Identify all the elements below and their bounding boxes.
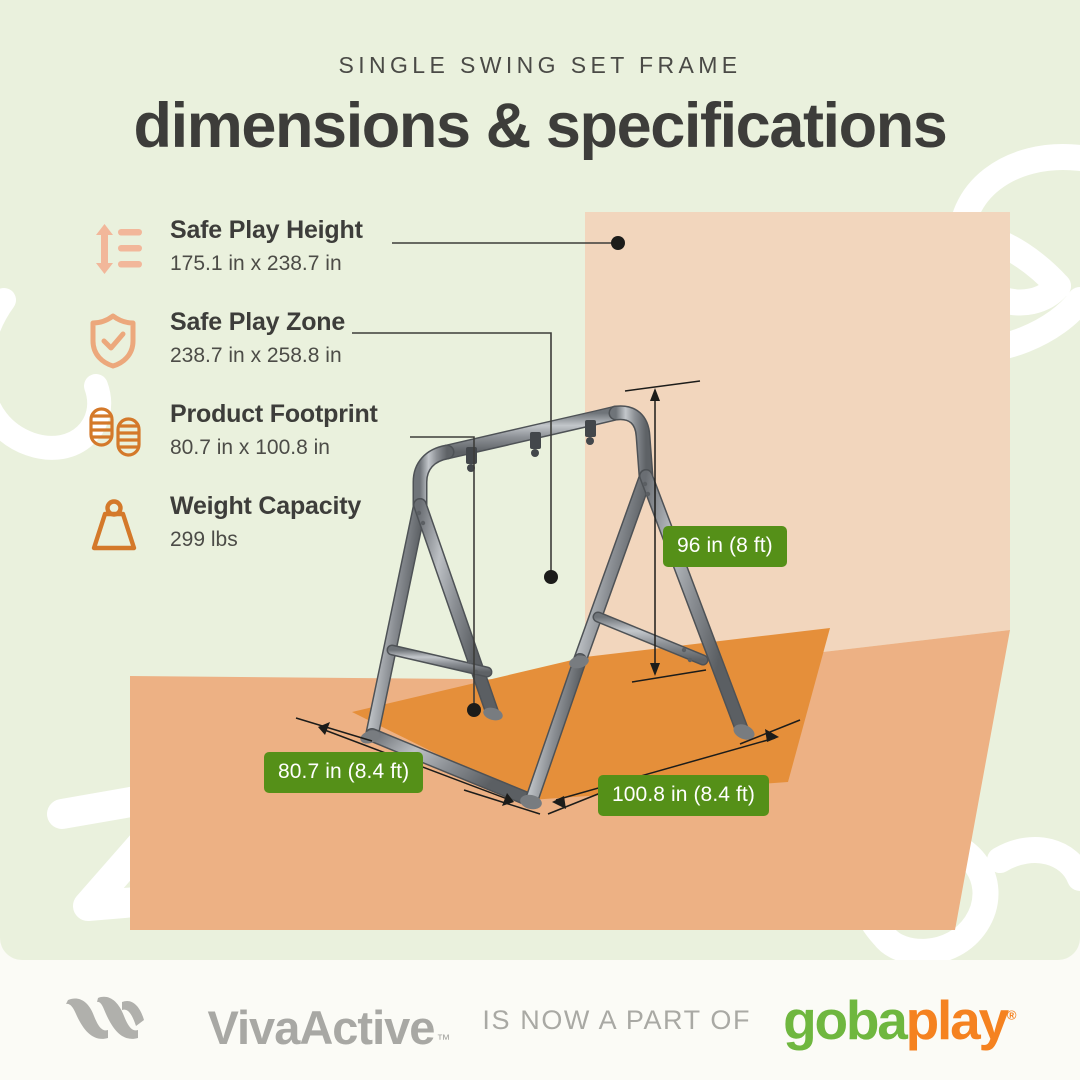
vivaactive-wordmark: VivaActive — [208, 1000, 435, 1055]
spec-label: Safe Play Zone — [170, 308, 345, 337]
trademark-symbol: ™ — [436, 1031, 450, 1047]
spec-row-safe-play-zone: Safe Play Zone 238.7 in x 258.8 in — [88, 306, 508, 398]
leader-dot-safe-play-zone — [544, 570, 558, 584]
weight-icon — [88, 490, 150, 558]
infographic-canvas: SINGLE SWING SET FRAME dimensions & spec… — [0, 0, 1080, 1080]
badge-height: 96 in (8 ft) — [663, 526, 787, 567]
footer-middle-text: IS NOW A PART OF — [482, 1005, 751, 1036]
footer-branding-bar: VivaActive ™ IS NOW A PART OF gobaplay® — [0, 960, 1080, 1080]
spec-label: Weight Capacity — [170, 492, 361, 521]
spec-value: 238.7 in x 258.8 in — [170, 344, 345, 368]
leader-dot-product-footprint — [467, 703, 481, 717]
spec-text-safe-play-height: Safe Play Height 175.1 in x 238.7 in — [150, 214, 363, 276]
footprints-icon — [88, 398, 150, 466]
specifications-list: Safe Play Height 175.1 in x 238.7 in Saf… — [88, 214, 508, 582]
spec-label: Product Footprint — [170, 400, 378, 429]
spec-label: Safe Play Height — [170, 216, 363, 245]
gobaplay-goba: goba — [783, 989, 906, 1051]
shield-check-icon — [88, 306, 150, 374]
spec-value: 175.1 in x 238.7 in — [170, 252, 363, 276]
badge-depth: 100.8 in (8.4 ft) — [598, 775, 769, 816]
height-arrows-icon — [88, 214, 150, 282]
gobaplay-play: play — [906, 989, 1007, 1051]
spec-text-weight-capacity: Weight Capacity 299 lbs — [150, 490, 361, 552]
hanger-bracket-middle — [530, 432, 541, 457]
spec-row-weight-capacity: Weight Capacity 299 lbs — [88, 490, 508, 582]
spec-text-safe-play-zone: Safe Play Zone 238.7 in x 258.8 in — [150, 306, 345, 368]
vivaactive-logo: VivaActive ™ — [64, 986, 451, 1055]
spec-value: 299 lbs — [170, 528, 361, 552]
vivaactive-mark-icon — [64, 986, 214, 1044]
registered-symbol: ® — [1007, 1008, 1017, 1023]
badge-width: 80.7 in (8.4 ft) — [264, 752, 423, 793]
spec-row-product-footprint: Product Footprint 80.7 in x 100.8 in — [88, 398, 508, 490]
spec-text-product-footprint: Product Footprint 80.7 in x 100.8 in — [150, 398, 378, 460]
gobaplay-logo: gobaplay® — [783, 988, 1016, 1052]
spec-value: 80.7 in x 100.8 in — [170, 436, 378, 460]
spec-row-safe-play-height: Safe Play Height 175.1 in x 238.7 in — [88, 214, 508, 306]
leader-dot-safe-play-height — [611, 236, 625, 250]
